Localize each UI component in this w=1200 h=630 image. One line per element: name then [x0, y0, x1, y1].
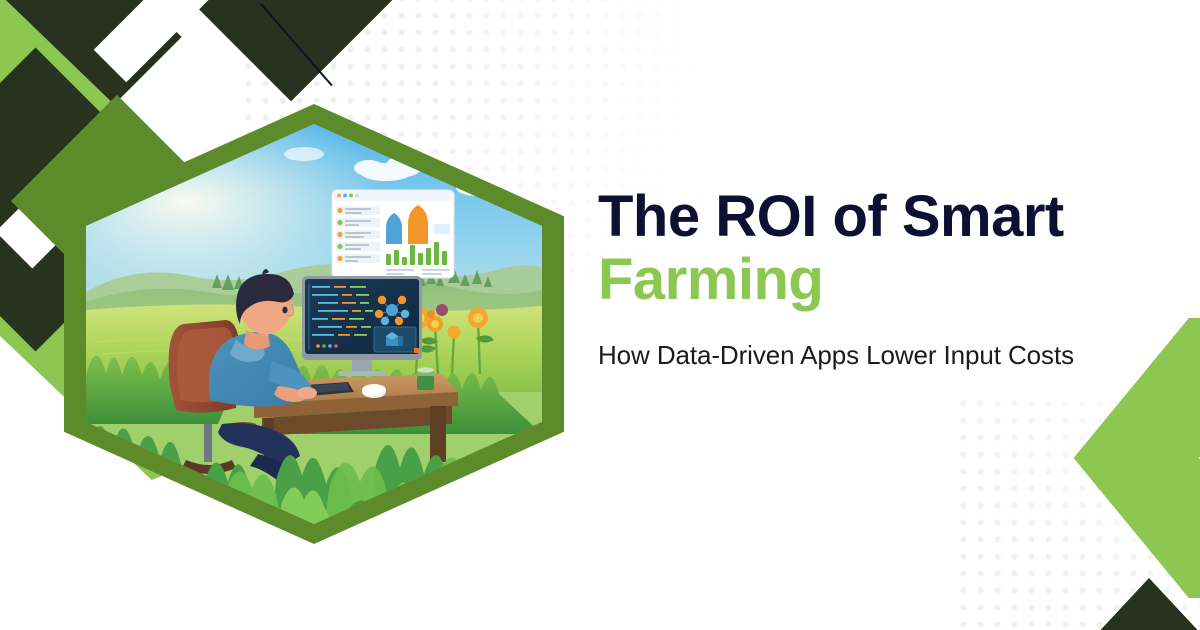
page-subtitle: How Data-Driven Apps Lower Input Costs: [598, 337, 1120, 374]
page-title: The ROI of SmartFarming: [598, 186, 1138, 311]
hexagon-illustration: [64, 104, 564, 544]
hero-banner: The ROI of SmartFarming How Data-Driven …: [0, 0, 1200, 630]
hero-copy: The ROI of SmartFarming How Data-Driven …: [598, 186, 1138, 374]
headline-line-1: The ROI of Smart: [598, 184, 1064, 249]
headline-line-2: Farming: [598, 249, 1138, 312]
